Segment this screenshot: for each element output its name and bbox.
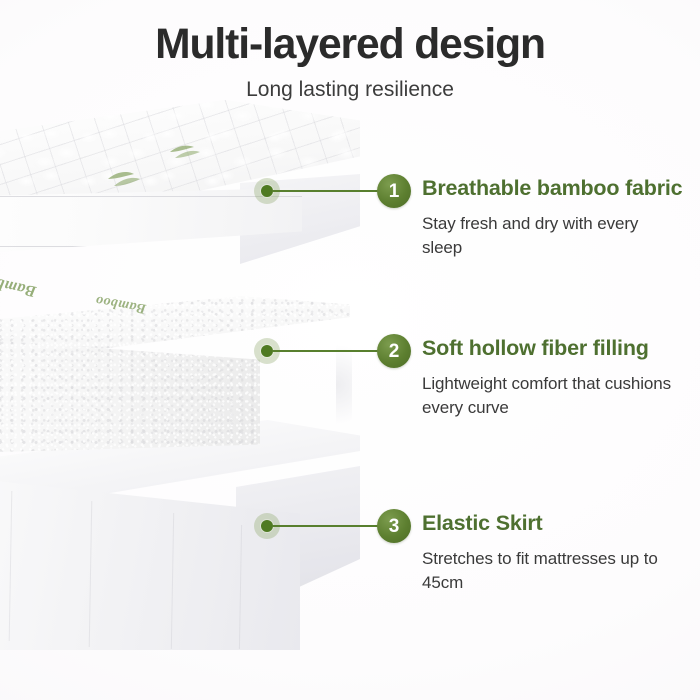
bamboo-leaf-icon: [106, 166, 148, 192]
callout-title-3: Elastic Skirt: [422, 513, 543, 535]
leader-line-2: [272, 350, 384, 352]
infographic-canvas: Bamboo Bamboo Bamboo Multi-layered desig…: [0, 0, 700, 700]
leader-line-3: [272, 525, 384, 527]
callout-badge-1: 1: [377, 174, 411, 208]
callout-body-3: Stretches to fit mattresses up to 45cm: [422, 547, 680, 595]
skirt-crease: [171, 513, 174, 649]
skirt-crease: [239, 525, 242, 649]
fiber-texture: [0, 336, 260, 454]
fiber-edge-highlight: [336, 330, 352, 440]
page-subtitle: Long lasting resilience: [0, 78, 700, 101]
page-title: Multi-layered design: [4, 22, 697, 67]
fiber-front-face: [0, 336, 260, 454]
callout-body-2: Lightweight comfort that cushions every …: [422, 372, 677, 420]
layer-fiber-filling: [0, 296, 350, 466]
skirt-crease: [9, 491, 13, 641]
callout-body-1: Stay fresh and dry with every sleep: [422, 212, 672, 260]
callout-badge-2: 2: [377, 334, 411, 368]
brand-print-bamboo-small: Bamboo: [0, 270, 38, 300]
callout-title-2: Soft hollow fiber filling: [422, 338, 649, 360]
callout-badge-3: 3: [377, 509, 411, 543]
leader-line-1: [272, 190, 384, 192]
skirt-crease: [89, 501, 93, 647]
header-block: Multi-layered design Long lasting resili…: [0, 22, 700, 101]
layer-bamboo-topper: Bamboo Bamboo Bamboo: [0, 100, 360, 300]
callout-title-1: Breathable bamboo fabric: [422, 178, 682, 200]
bamboo-leaf-icon: [168, 140, 208, 164]
